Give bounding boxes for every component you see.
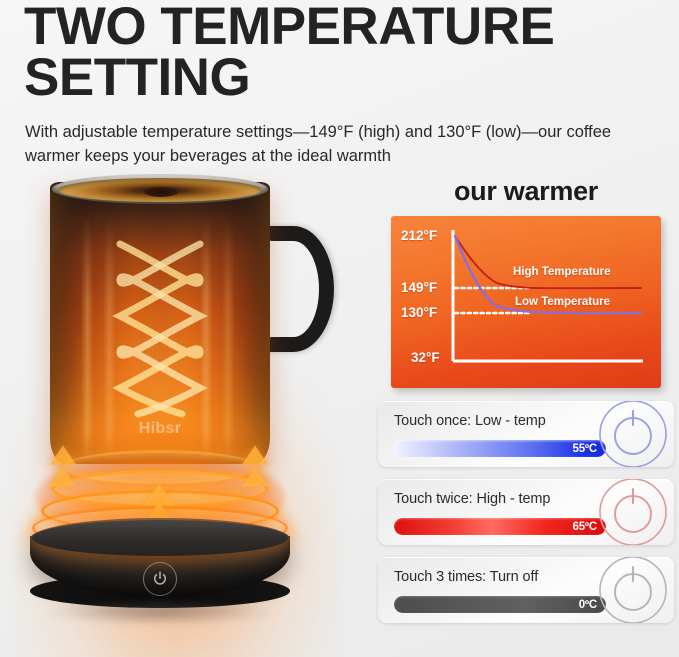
bar-fill: 0ºC	[394, 596, 606, 613]
legend-low-temperature: Low Temperature	[515, 296, 610, 308]
axis-tick-149f: 149°F	[401, 280, 437, 295]
product-image: Hibsr	[0, 168, 372, 657]
legend-high-temperature: High Temperature	[513, 266, 611, 278]
base-shadow	[50, 602, 272, 624]
heat-arrow-up-icon	[242, 445, 268, 464]
coffee-mug: Hibsr	[50, 174, 270, 464]
base-power-button[interactable]	[143, 562, 177, 596]
bar-fill: 55ºC	[394, 440, 606, 457]
power-icon[interactable]	[594, 557, 672, 623]
brand-logo: Hibsr	[50, 420, 270, 438]
touch-settings-list: Touch once: Low - temp 55ºC Touch twice:…	[378, 401, 674, 623]
heat-arrow-up-icon	[50, 445, 76, 464]
power-icon	[151, 570, 169, 588]
card-label: Touch 3 times: Turn off	[394, 569, 538, 585]
list-item[interactable]: Touch 3 times: Turn off 0ºC	[378, 557, 674, 623]
infographic-page: TWO TEMPERATURE SETTING With adjustable …	[0, 0, 679, 657]
power-icon[interactable]	[594, 401, 672, 467]
temperature-bar: 55ºC	[394, 440, 606, 457]
card-label: Touch once: Low - temp	[394, 413, 546, 429]
power-icon[interactable]	[594, 479, 672, 545]
mug-body: Hibsr	[50, 182, 270, 464]
temperature-bar: 0ºC	[394, 596, 606, 613]
bar-fill: 65ºC	[394, 518, 606, 535]
axis-tick-32f: 32°F	[411, 350, 440, 365]
section-title: our warmer	[378, 176, 674, 207]
card-label: Touch twice: High - temp	[394, 491, 550, 507]
page-title: TWO TEMPERATURE SETTING	[24, 2, 644, 104]
temperature-chart: 212°F 149°F 130°F 32°F High Temperature …	[391, 216, 661, 388]
list-item[interactable]: Touch once: Low - temp 55ºC	[378, 401, 674, 467]
page-subtitle: With adjustable temperature settings—149…	[25, 120, 665, 169]
coffee-surface	[58, 178, 262, 202]
helix-coil-icon	[106, 240, 214, 418]
axis-tick-130f: 130°F	[401, 305, 437, 320]
warmer-base	[24, 518, 296, 626]
temperature-bar: 65ºC	[394, 518, 606, 535]
heat-arrow-up-icon	[50, 467, 76, 486]
axis-tick-212f: 212°F	[401, 228, 437, 243]
heat-arrow-up-icon	[242, 467, 268, 486]
base-glow-edge	[32, 520, 288, 556]
right-column: our warmer 212°F 149°F 130°F 32°F High T…	[378, 176, 674, 635]
list-item[interactable]: Touch twice: High - temp 65ºC	[378, 479, 674, 545]
